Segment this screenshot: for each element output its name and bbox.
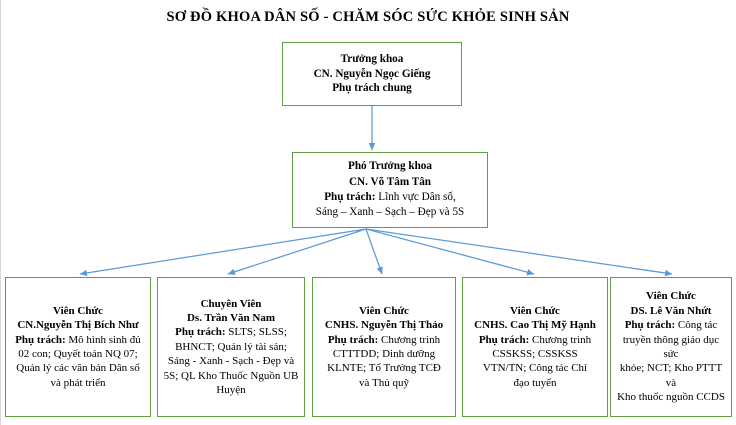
node-duty-line-4: và phát triển bbox=[11, 376, 145, 390]
node-duty-line-2: CTTTDD; Dinh dưỡng bbox=[318, 347, 450, 361]
node-duty-line-1: Phụ trách: Công tác bbox=[616, 318, 726, 332]
duty-text: Chương trình bbox=[378, 334, 440, 346]
node-name: CN.Nguyễn Thị Bích Như bbox=[11, 318, 145, 332]
node-name: CN. Võ Tâm Tân bbox=[298, 175, 482, 190]
connector-deputy-to-staff-1 bbox=[80, 229, 366, 274]
node-duty: Phụ trách chung bbox=[288, 81, 456, 96]
node-duty-line-3: VTN/TN; Công tác Chỉ bbox=[468, 361, 602, 375]
node-staff-4[interactable]: Viên Chức CNHS. Cao Thị Mỹ Hạnh Phụ trác… bbox=[462, 277, 608, 417]
duty-label: Phụ trách: bbox=[625, 319, 675, 331]
node-duty-line-1: Phụ trách: Mô hình sinh đủ bbox=[11, 333, 145, 347]
node-role: Viên Chức bbox=[11, 304, 145, 318]
duty-label: Phụ trách: bbox=[175, 326, 225, 338]
node-duty-line-2: truyền thông giáo dục sức bbox=[616, 333, 726, 362]
node-role: Viên Chức bbox=[318, 304, 450, 318]
duty-label: Phụ trách: bbox=[15, 334, 65, 346]
connector-deputy-to-staff-2 bbox=[228, 229, 366, 274]
node-duty-line-4: 5S; QL Kho Thuốc Nguồn UB bbox=[163, 369, 299, 383]
org-chart-page: SƠ ĐỒ KHOA DÂN SỐ - CHĂM SÓC SỨC KHỎE SI… bbox=[0, 0, 736, 425]
node-duty-line-3: KLNTE; Tổ Trưởng TCĐ bbox=[318, 361, 450, 375]
node-duty-line-2: Sáng – Xanh – Sạch – Đẹp và 5S bbox=[298, 205, 482, 220]
duty-label: Phụ trách: bbox=[324, 191, 375, 203]
node-role: Trưởng khoa bbox=[288, 52, 456, 67]
duty-text: Mô hình sinh đủ bbox=[66, 334, 141, 346]
node-duty-line-1: Phụ trách: SLTS; SLSS; bbox=[163, 325, 299, 339]
node-duty-line-3: Sáng - Xanh - Sạch - Đẹp và bbox=[163, 354, 299, 368]
node-name: DS. Lê Văn Nhứt bbox=[616, 304, 726, 318]
node-duty-line-1: Phụ trách: Chương trình bbox=[318, 333, 450, 347]
duty-label: Phụ trách: bbox=[479, 334, 529, 346]
node-pho-truong-khoa[interactable]: Phó Trưởng khoa CN. Võ Tâm Tân Phụ trách… bbox=[292, 152, 488, 228]
duty-label: Phụ trách: bbox=[328, 334, 378, 346]
node-duty-line-2: CSSKSS; CSSKSS bbox=[468, 347, 602, 361]
node-name: Ds. Trần Văn Nam bbox=[163, 311, 299, 325]
node-name: CNHS. Cao Thị Mỹ Hạnh bbox=[468, 318, 602, 332]
node-duty-line-3: Quản lý các văn bản Dân số bbox=[11, 361, 145, 375]
node-duty-line-4: đạo tuyến bbox=[468, 376, 602, 390]
page-title: SƠ ĐỒ KHOA DÂN SỐ - CHĂM SÓC SỨC KHỎE SI… bbox=[0, 8, 736, 26]
duty-text: SLTS; SLSS; bbox=[226, 326, 287, 338]
node-duty-line-1: Phụ trách: Lĩnh vực Dân số, bbox=[298, 190, 482, 205]
node-duty-line-5: Huyện bbox=[163, 383, 299, 397]
duty-text: Lĩnh vực Dân số, bbox=[375, 191, 455, 203]
node-name: CN. Nguyễn Ngọc Giếng bbox=[288, 67, 456, 82]
duty-text: Công tác bbox=[675, 319, 717, 331]
node-staff-5[interactable]: Viên Chức DS. Lê Văn Nhứt Phụ trách: Côn… bbox=[610, 277, 732, 417]
node-duty-line-4: và Thủ quỹ bbox=[318, 376, 450, 390]
node-duty-line-2: BHNCT; Quản lý tài sản; bbox=[163, 340, 299, 354]
node-truong-khoa[interactable]: Trưởng khoa CN. Nguyễn Ngọc Giếng Phụ tr… bbox=[282, 42, 462, 106]
node-duty-line-3: khỏe; NCT; Kho PTTT và bbox=[616, 361, 726, 390]
node-duty-line-1: Phụ trách: Chương trình bbox=[468, 333, 602, 347]
node-role: Chuyên Viên bbox=[163, 297, 299, 311]
node-name: CNHS. Nguyễn Thị Thảo bbox=[318, 318, 450, 332]
node-role: Phó Trưởng khoa bbox=[298, 159, 482, 174]
page-left-rule bbox=[0, 0, 1, 425]
node-staff-3[interactable]: Viên Chức CNHS. Nguyễn Thị Thảo Phụ trác… bbox=[312, 277, 456, 417]
node-duty-line-4: Kho thuốc nguồn CCDS bbox=[616, 390, 726, 404]
connector-deputy-to-staff-4 bbox=[366, 229, 534, 274]
node-duty-line-2: 02 con; Quyết toán NQ 07; bbox=[11, 347, 145, 361]
node-role: Viên Chức bbox=[468, 304, 602, 318]
node-role: Viên Chức bbox=[616, 289, 726, 303]
connector-deputy-to-staff-3 bbox=[366, 229, 382, 274]
duty-text: Chương trình bbox=[529, 334, 591, 346]
node-staff-2[interactable]: Chuyên Viên Ds. Trần Văn Nam Phụ trách: … bbox=[157, 277, 305, 417]
node-staff-1[interactable]: Viên Chức CN.Nguyễn Thị Bích Như Phụ trá… bbox=[5, 277, 151, 417]
connector-deputy-to-staff-5 bbox=[366, 229, 672, 274]
